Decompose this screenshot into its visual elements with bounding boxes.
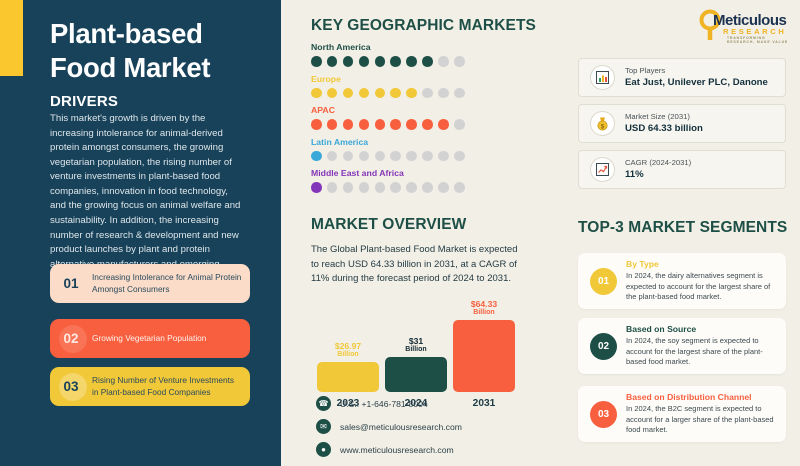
contact-row-2[interactable]: ●www.meticulousresearch.com (316, 442, 462, 457)
geo-region-label: North America (311, 42, 566, 52)
dot-filled (406, 119, 417, 130)
dot-empty (422, 88, 433, 99)
infographic-page: Plant-based Food Market DRIVERS This mar… (0, 0, 800, 466)
driver-label-2: Growing Vegetarian Population (92, 333, 214, 344)
segment-desc-1: In 2024, the dairy alternatives segment … (626, 271, 777, 302)
segments-title: TOP-3 MARKET SEGMENTS (578, 219, 793, 237)
bar-value-unit: Billion (317, 351, 379, 359)
dot-empty (438, 151, 449, 162)
dot-empty (454, 151, 465, 162)
dot-empty (327, 151, 338, 162)
geo-rating-dots (311, 151, 566, 162)
contact-text-0: U.S.: +1-646-781-8004 (340, 399, 428, 409)
bar-value-number: $64.33 (471, 299, 497, 309)
dot-empty (390, 182, 401, 193)
driver-pill-3[interactable]: 03 Rising Number of Venture Investments … (50, 367, 250, 406)
dot-filled (406, 88, 417, 99)
bar-column-2031: $64.33Billion2031 (453, 300, 515, 409)
segment-number-2: 02 (590, 333, 617, 360)
geo-row-middle-east-and-africa: Middle East and Africa (311, 168, 566, 193)
dot-filled (327, 88, 338, 99)
trend-chart-icon (590, 157, 615, 182)
dot-filled (375, 119, 386, 130)
geographic-markets-title: KEY GEOGRAPHIC MARKETS (311, 17, 566, 35)
dot-empty (454, 88, 465, 99)
dot-empty (359, 151, 370, 162)
geo-row-europe: Europe (311, 74, 566, 99)
contact-row-0[interactable]: ☎U.S.: +1-646-781-8004 (316, 396, 462, 411)
dot-filled (390, 119, 401, 130)
dot-filled (343, 56, 354, 67)
dot-filled (375, 88, 386, 99)
geo-rating-dots (311, 88, 566, 99)
title-line-1: Plant-based (50, 17, 275, 51)
page-title: Plant-based Food Market (50, 17, 275, 84)
dot-empty (454, 56, 465, 67)
logo-subtitle: RESEARCH (723, 27, 786, 36)
segments-section: TOP-3 MARKET SEGMENTS (578, 219, 793, 237)
geo-row-latin-america: Latin America (311, 137, 566, 162)
dot-filled (390, 88, 401, 99)
stat-value-cagr: 11% (625, 168, 691, 182)
dot-empty (359, 182, 370, 193)
dot-empty (343, 182, 354, 193)
yellow-accent-bar (0, 0, 23, 76)
dot-empty (438, 88, 449, 99)
geo-rating-dots (311, 56, 566, 67)
dot-empty (454, 182, 465, 193)
dot-empty (406, 182, 417, 193)
driver-pill-1[interactable]: 01 Increasing Intolerance for Animal Pro… (50, 264, 250, 303)
driver-label-1: Increasing Intolerance for Animal Protei… (92, 272, 250, 294)
dot-empty (422, 151, 433, 162)
geo-region-label: APAC (311, 105, 566, 115)
driver-number-1: 01 (50, 276, 92, 291)
stat-label-market-size: Market Size (2031) (625, 111, 703, 123)
dot-filled (327, 56, 338, 67)
dot-filled (343, 119, 354, 130)
meticulous-research-logo: Meticulous RESEARCH TRANSFORMING RESEARC… (697, 9, 793, 45)
segment-number-3: 03 (590, 401, 617, 428)
segment-desc-2: In 2024, the soy segment is expected to … (626, 336, 777, 367)
segment-title-3: Based on Distribution Channel (626, 392, 777, 402)
bar-value-unit: Billion (453, 309, 515, 317)
geographic-rows: North AmericaEuropeAPACLatin AmericaMidd… (311, 42, 566, 193)
geo-region-label: Europe (311, 74, 566, 84)
dot-empty (390, 151, 401, 162)
market-overview-text: The Global Plant-based Food Market is ex… (311, 243, 525, 287)
email-icon: ✉ (316, 419, 331, 434)
bar-chart-icon (590, 65, 615, 90)
dot-empty (375, 182, 386, 193)
dot-filled (311, 88, 322, 99)
stat-card-market-size[interactable]: $ Market Size (2031) USD 64.33 billion (578, 104, 786, 143)
stat-label-top-players: Top Players (625, 65, 768, 77)
geo-rating-dots (311, 119, 566, 130)
dot-filled (422, 119, 433, 130)
dot-filled (327, 119, 338, 130)
dot-empty (438, 56, 449, 67)
market-size-bar-chart: $26.97Billion2023$31Billion2024$64.33Bil… (311, 299, 566, 409)
medal-icon: $ (590, 111, 615, 136)
dot-filled (438, 119, 449, 130)
dot-filled (311, 151, 322, 162)
drivers-paragraph: This market's growth is driven by the in… (50, 112, 246, 287)
dot-filled (343, 88, 354, 99)
contact-text-1: sales@meticulousresearch.com (340, 422, 462, 432)
bar-value-label-2024: $31Billion (385, 337, 447, 354)
bar-category-label-2031: 2031 (453, 398, 515, 409)
stat-card-cagr[interactable]: CAGR (2024-2031) 11% (578, 150, 786, 189)
logo-tagline: TRANSFORMING RESEARCH, MAKE VALUE (727, 36, 793, 44)
dot-filled (359, 56, 370, 67)
driver-pill-2[interactable]: 02 Growing Vegetarian Population (50, 319, 250, 358)
phone-icon: ☎ (316, 396, 331, 411)
bar-value-number: $26.97 (335, 341, 361, 351)
geo-region-label: Middle East and Africa (311, 168, 566, 178)
dot-empty (454, 119, 465, 130)
segment-card-2[interactable]: 02 Based on Source In 2024, the soy segm… (578, 318, 786, 374)
contact-block: ☎U.S.: +1-646-781-8004✉sales@meticulousr… (316, 396, 462, 465)
dot-filled (311, 119, 322, 130)
geographic-markets-section: KEY GEOGRAPHIC MARKETS North AmericaEuro… (311, 17, 566, 193)
stat-label-cagr: CAGR (2024-2031) (625, 157, 691, 169)
dot-empty (438, 182, 449, 193)
bar-value-number: $31 (409, 336, 423, 346)
market-overview-title: MARKET OVERVIEW (311, 216, 566, 234)
left-panel: Plant-based Food Market DRIVERS This mar… (0, 0, 281, 466)
segment-title-2: Based on Source (626, 324, 777, 334)
dot-filled (406, 56, 417, 67)
dot-filled (359, 88, 370, 99)
dot-empty (406, 151, 417, 162)
stat-value-top-players: Eat Just, Unilever PLC, Danone (625, 76, 768, 90)
dot-empty (343, 151, 354, 162)
driver-number-2: 02 (50, 331, 92, 346)
dot-empty (375, 151, 386, 162)
contact-row-1[interactable]: ✉sales@meticulousresearch.com (316, 419, 462, 434)
geo-region-label: Latin America (311, 137, 566, 147)
stat-card-top-players[interactable]: Top Players Eat Just, Unilever PLC, Dano… (578, 58, 786, 97)
geo-rating-dots (311, 182, 566, 193)
segment-title-1: By Type (626, 259, 777, 269)
market-overview-section: MARKET OVERVIEW The Global Plant-based F… (311, 216, 566, 409)
dot-filled (311, 56, 322, 67)
dot-filled (375, 56, 386, 67)
bar-value-label-2023: $26.97Billion (317, 342, 379, 359)
driver-number-3: 03 (50, 379, 92, 394)
bar-value-unit: Billion (385, 346, 447, 354)
dot-filled (422, 56, 433, 67)
contact-text-2: www.meticulousresearch.com (340, 445, 454, 455)
dot-filled (359, 119, 370, 130)
segment-desc-3: In 2024, the B2C segment is expected to … (626, 404, 777, 435)
geo-row-apac: APAC (311, 105, 566, 130)
title-line-2: Food Market (50, 51, 275, 85)
dot-empty (327, 182, 338, 193)
geo-row-north-america: North America (311, 42, 566, 67)
bar-2031 (453, 320, 515, 392)
globe-icon: ● (316, 442, 331, 457)
bar-2024 (385, 357, 447, 392)
bar-value-label-2031: $64.33Billion (453, 300, 515, 317)
dot-filled (311, 182, 322, 193)
segment-card-1[interactable]: 01 By Type In 2024, the dairy alternativ… (578, 253, 786, 309)
stat-value-market-size: USD 64.33 billion (625, 122, 703, 136)
driver-label-3: Rising Number of Venture Investments in … (92, 375, 250, 397)
bar-2023 (317, 362, 379, 392)
dot-empty (422, 182, 433, 193)
drivers-heading: DRIVERS (50, 93, 118, 110)
dot-filled (390, 56, 401, 67)
segment-number-1: 01 (590, 268, 617, 295)
segment-card-3[interactable]: 03 Based on Distribution Channel In 2024… (578, 386, 786, 442)
